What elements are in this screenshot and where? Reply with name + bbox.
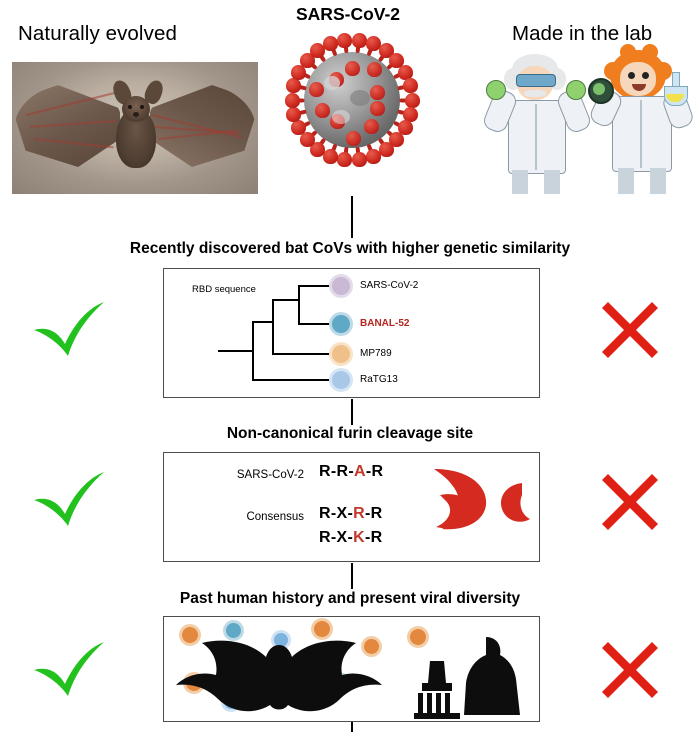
green-check-icon [32,300,106,358]
seq-char-highlight: A [354,463,366,480]
tree-branch-root [218,350,252,352]
tree-tip-label: SARS-CoV-2 [360,280,418,291]
spike-protein-icon [405,93,420,108]
spike-protein-icon [366,149,381,164]
tree-branch-v-root [252,321,254,380]
tree-branch-node3-h [272,299,298,301]
tree-tip-banal-52: BANAL-52 [332,315,532,335]
bat-head [122,96,150,122]
header-left-label: Naturally evolved [18,22,177,46]
tree-branch-node2-v [272,299,274,354]
history-panel [163,616,540,722]
virion-dot [314,621,330,637]
spike-protein-icon [364,119,379,134]
bat-photograph [12,62,258,194]
tree-branch-ratg13 [252,379,334,381]
tree-tip-label: RaTG13 [360,374,398,385]
tip-virion-icon [332,371,350,389]
connector-furin-to-history [351,563,353,589]
sars-cov-2-virion-icon [288,36,416,164]
connector-virus-to-tree [351,196,353,238]
header-right-label: Made in the lab [512,22,652,46]
tip-virion-icon [332,345,350,363]
section-tree-title: Recently discovered bat CoVs with higher… [0,240,700,258]
spike-protein-icon [285,93,300,108]
spike-protein-icon [345,61,360,76]
spike-protein-icon [403,78,418,93]
furin-row-label-consensus: Consensus [174,511,304,523]
scissors-cleavage-icon [426,465,536,545]
tree-tip-mp789: MP789 [332,345,532,365]
tree-tip-sars-cov-2: SARS-CoV-2 [332,277,532,297]
tree-branch-sars [298,285,334,287]
green-check-icon [32,640,106,698]
tree-panel: RBD sequence SARS-CoV-2 BANAL-52 [163,268,540,398]
seq-char: R [371,505,383,522]
scientist-cartoon-icon [486,50,582,196]
furin-row-label-sars: SARS-CoV-2 [174,469,304,481]
seq-char: R [371,529,383,546]
virion-dot [410,629,426,645]
spike-protein-icon [367,62,382,77]
spike-protein-icon [370,85,385,100]
scientist-microscope-silhouette-icon [400,635,532,721]
spike-protein-icon [337,152,352,167]
tree-branch-banal [298,323,334,325]
furin-panel: SARS-CoV-2 R-R-A-R Consensus R-X-R-R R-X… [163,452,540,562]
red-cross-icon [600,640,660,700]
furin-sequence-consensus-2: R-X-K-R [319,529,382,547]
figure-canvas: Naturally evolved SARS-CoV-2 Made in the… [0,0,700,732]
spike-protein-icon [323,36,338,51]
tip-virion-icon [332,277,350,295]
seq-char: R [319,529,331,546]
seq-char: R [337,463,349,480]
seq-char-highlight: R [353,505,365,522]
connector-tree-to-furin [351,399,353,425]
spike-protein-icon [286,107,301,122]
scientist-flask-cartoon-icon [592,48,692,198]
virion-dot [226,623,241,638]
spike-protein-icon [337,33,352,48]
tree-branch-node2-h [252,321,272,323]
tree-branch-node3-v [298,285,300,325]
tree-tip-label: MP789 [360,348,392,359]
section-furin-title: Non-canonical furin cleavage site [0,425,700,443]
green-check-icon [32,470,106,528]
tree-branch-mp789 [272,353,334,355]
seq-char: X [337,529,348,546]
red-cross-icon [600,472,660,532]
spike-protein-icon [286,78,301,93]
spike-protein-icon [315,103,330,118]
section-history-title: Past human history and present viral div… [0,590,700,608]
seq-char: R [319,505,331,522]
red-cross-icon [600,300,660,360]
seq-char: R [319,463,331,480]
spike-protein-icon [379,142,394,157]
spike-protein-icon [309,82,324,97]
tree-tip-ratg13: RaTG13 [332,371,532,391]
page-title: SARS-CoV-2 [296,4,400,25]
spike-protein-icon [370,101,385,116]
spike-protein-icon [352,33,367,48]
furin-sequence-consensus-1: R-X-R-R [319,505,382,523]
seq-char: R [372,463,384,480]
connector-history-bottom [351,722,353,732]
spike-protein-icon [323,149,338,164]
tree-tip-label: BANAL-52 [360,318,409,329]
seq-char: X [337,505,348,522]
furin-sequence-sars: R-R-A-R [319,463,383,481]
rbd-sequence-label: RBD sequence [192,284,256,295]
bat-silhouette-with-virions-icon [174,637,384,717]
spike-protein-icon [352,152,367,167]
seq-char-highlight: K [353,529,365,546]
tip-virion-icon [332,315,350,333]
spike-protein-icon [346,131,361,146]
spike-protein-icon [300,132,315,147]
